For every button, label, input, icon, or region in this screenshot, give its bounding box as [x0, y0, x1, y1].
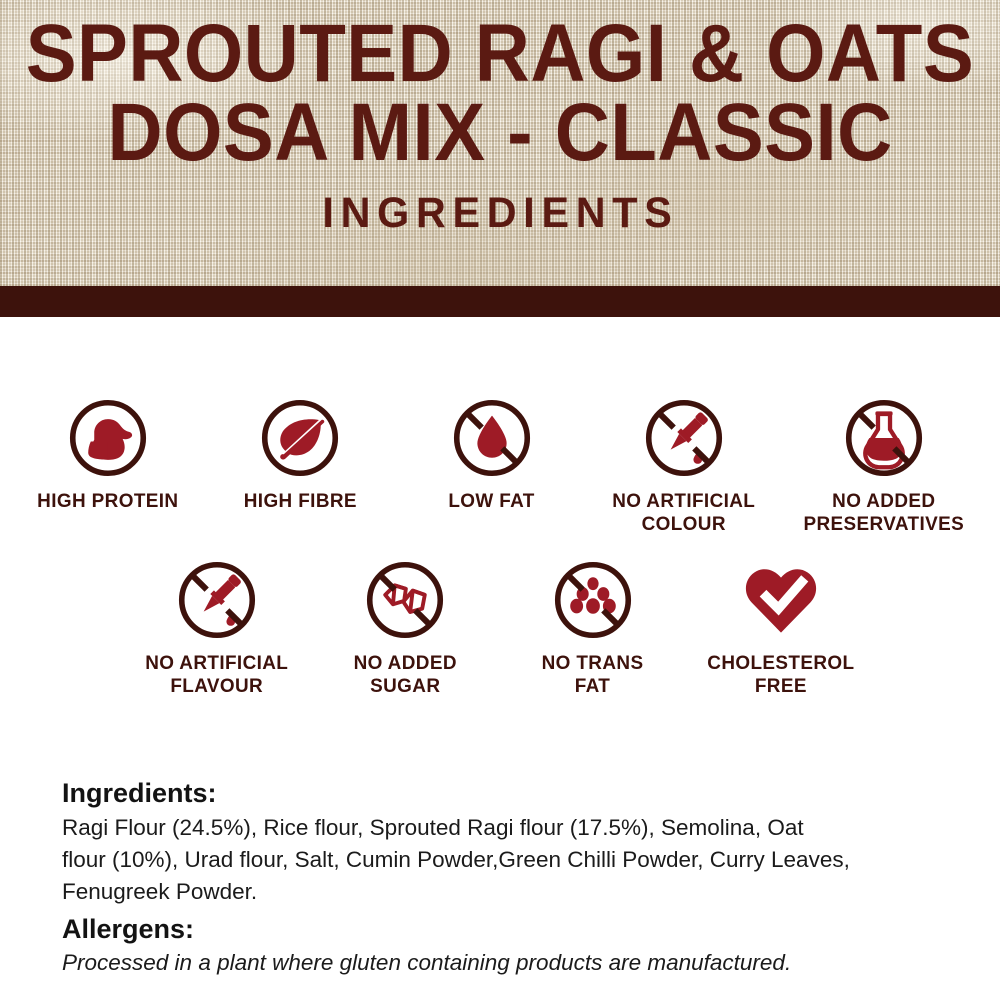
benefit-badge-label: NO TRANS FAT: [542, 652, 644, 698]
benefit-badge-label: NO ARTIFICIAL COLOUR: [612, 490, 755, 536]
benefit-badge: NO ARTIFICIAL FLAVOUR: [127, 557, 307, 698]
benefit-badge: NO TRANS FAT: [503, 557, 683, 698]
benefit-badge-grid: HIGH PROTEINHIGH FIBRELOW FATNO ARTIFICI…: [0, 317, 1000, 757]
leaf-icon: [257, 395, 343, 481]
benefit-badge-label: HIGH FIBRE: [243, 490, 356, 513]
header-divider-bar: [0, 286, 1000, 317]
ingredients-heading: Ingredients:: [62, 778, 942, 810]
benefit-badge: NO ARTIFICIAL COLOUR: [594, 395, 774, 536]
benefit-badge: CHOLESTEROL FREE: [691, 557, 871, 698]
flask-icon: [841, 395, 927, 481]
product-info-block: Ingredients: Ragi Flour (24.5%), Rice fl…: [62, 778, 942, 978]
header-banner: SPROUTED RAGI & OATS DOSA MIX - CLASSIC …: [0, 0, 1000, 286]
product-title-line-1: SPROUTED RAGI & OATS: [26, 16, 974, 91]
benefit-badge: NO ADDED SUGAR: [315, 557, 495, 698]
fat-droplets-icon: [550, 557, 636, 643]
product-title-line-2: DOSA MIX - CLASSIC: [107, 95, 892, 170]
heart-check-icon: [738, 557, 824, 643]
allergens-body: Processed in a plant where gluten contai…: [62, 947, 922, 979]
droplet-icon: [449, 395, 535, 481]
allergens-heading: Allergens:: [62, 914, 942, 946]
section-subtitle: INGREDIENTS: [322, 189, 678, 238]
benefit-badge-label: NO ADDED SUGAR: [353, 652, 456, 698]
benefit-badge: NO ADDED PRESERVATIVES: [794, 395, 974, 536]
bicep-icon: [65, 395, 151, 481]
benefit-badge-label: HIGH PROTEIN: [37, 490, 178, 513]
dropper-icon: [641, 395, 727, 481]
benefit-badge-label: LOW FAT: [449, 490, 535, 513]
benefit-badge: HIGH PROTEIN: [18, 395, 198, 513]
benefit-badge: LOW FAT: [402, 395, 582, 513]
dropper-icon: [174, 557, 260, 643]
ingredients-body: Ragi Flour (24.5%), Rice flour, Sprouted…: [62, 812, 852, 908]
sugar-cubes-icon: [362, 557, 448, 643]
benefit-badge-label: CHOLESTEROL FREE: [707, 652, 854, 698]
benefit-badge-label: NO ADDED PRESERVATIVES: [804, 490, 965, 536]
benefit-badge-label: NO ARTIFICIAL FLAVOUR: [145, 652, 288, 698]
benefit-badge: HIGH FIBRE: [210, 395, 390, 513]
